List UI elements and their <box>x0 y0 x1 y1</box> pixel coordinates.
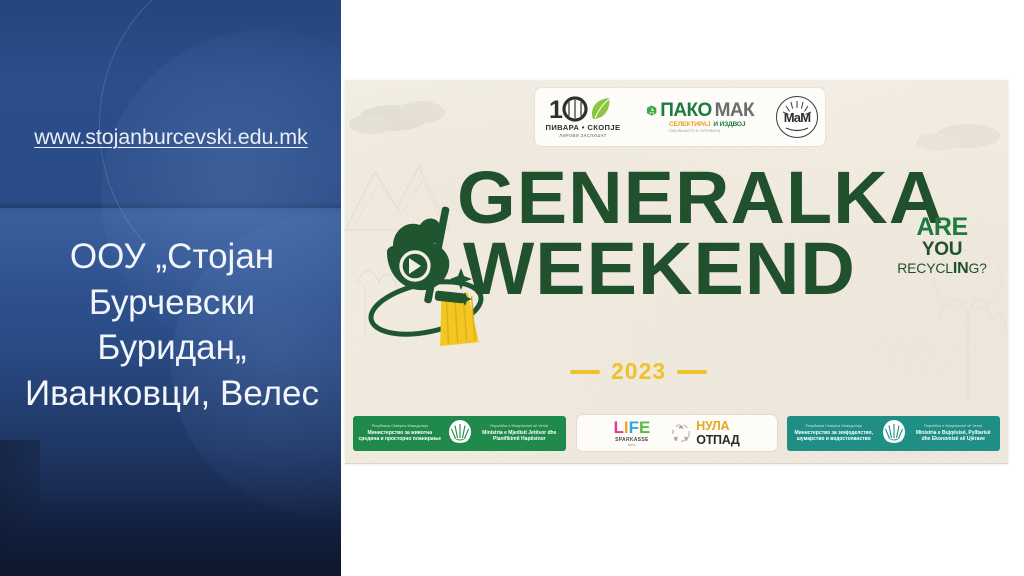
nula-line-1: НУЛА <box>696 420 739 433</box>
macedonia-coat-of-arms-icon <box>447 419 473 447</box>
pivara-skopje-label: ПИВАРА • СКОПЈЕ <box>545 123 620 132</box>
recycling-prefix: RECYCL <box>897 260 953 276</box>
recycle-arrows-icon <box>670 422 692 444</box>
ministry-environment-country-mk: Република Северна Македонија <box>372 424 428 428</box>
pakomak-tagline-b: И ИЗДВОЈ <box>713 121 745 128</box>
top-sponsor-bar: 1 ПИВАРА • СКОПЈЕ ЛИРОВИ ЗАСЛУШАТ <box>535 88 825 146</box>
recycling-line-recycling: RECYCLING? <box>894 261 990 277</box>
ministry-environment-mk: Република Северна Македонија Министерств… <box>358 424 442 441</box>
ministry-agriculture-mk: Република Северна Македонија Министерств… <box>792 424 876 441</box>
pivara-100-glyph-icon: 1 <box>549 96 617 122</box>
poster-title-line-2: WEEKEND <box>463 236 916 301</box>
pakomak-hexagon-recycle-icon <box>646 101 657 120</box>
poster-year-row: 2023 <box>570 358 707 385</box>
ministry-environment-banner: Република Северна Македонија Министерств… <box>353 416 566 451</box>
nula-otpad-wordmark: НУЛА ОТПАД <box>696 420 739 446</box>
life-wordmark: LIFE <box>613 419 650 436</box>
mam-circle-rays-icon <box>777 97 817 137</box>
ministry-agriculture-title-sq: Ministria e Bujqësisë, Pylltarisë dhe Ek… <box>912 430 996 442</box>
mam-logo: MaM <box>776 96 818 138</box>
ministry-environment-title-mk: Министерство за животна средина и просто… <box>358 430 442 442</box>
pivara-skopje-logo: 1 ПИВАРА • СКОПЈЕ ЛИРОВИ ЗАСЛУШАТ <box>542 96 624 139</box>
poster-bottom-rule <box>345 463 1008 464</box>
pakomak-logo: ПАКО МАК СЕЛЕКТИРАЈ И ИЗДВОЈ ПАКУВАЊЕТО … <box>646 101 754 133</box>
pivara-skopje-sublabel: ЛИРОВИ ЗАСЛУШАТ <box>559 133 606 138</box>
recycling-line-you: YOU <box>894 240 990 259</box>
pakomak-tagline-a: СЕЛЕКТИРАЈ <box>669 121 710 128</box>
school-name-title: ООУ „Стојан Бурчевски Буридан„ Иванковци… <box>22 234 322 416</box>
macedonia-coat-of-arms-icon-2 <box>881 419 907 447</box>
pakomak-tagline: СЕЛЕКТИРАЈ И ИЗДВОЈ <box>669 121 754 128</box>
life-letter-l: L <box>613 419 623 436</box>
ministry-agriculture-country-mk: Република Северна Македонија <box>806 424 862 428</box>
pivara-100-mark: 1 <box>549 96 617 122</box>
pakomak-wordmark: ПАКО МАК <box>646 101 754 120</box>
ministry-agriculture-country-sq: Republika e Maqedonisë së Veriut <box>924 424 982 428</box>
svg-text:1: 1 <box>549 96 563 122</box>
website-url-link[interactable]: www.stojanburcevski.edu.mk <box>10 125 332 150</box>
pakomak-word-green: ПАКО <box>660 101 711 120</box>
life-sparkasse-logo: LIFE SPARKASSE Bank <box>613 419 650 447</box>
panel-corner-shadow <box>0 440 40 576</box>
ministry-environment-title-sq: Ministria e Mjedisit Jetësor dhe Planifi… <box>478 430 562 442</box>
center-sponsor-logos: LIFE SPARKASSE Bank НУЛА ОТПАД <box>577 415 777 451</box>
ministry-environment-country-sq: Republika e Maqedonisë së Veriut <box>490 424 548 428</box>
nula-otpad-logo: НУЛА ОТПАД <box>670 420 739 446</box>
nula-line-2: ОТПАД <box>696 434 739 447</box>
recycling-suffix: G? <box>968 260 986 276</box>
ministry-agriculture-title-mk: Министерство за земјоделство, шумарство … <box>792 430 876 442</box>
bottom-sponsor-row: Република Северна Македонија Министерств… <box>353 413 1000 453</box>
pakomak-word-grey: МАК <box>715 101 754 120</box>
life-letter-f: F <box>629 419 639 436</box>
pakomak-tagline-c: ПАКУВАЊЕТО Е СУРОВИНА <box>669 129 754 133</box>
poster-year: 2023 <box>611 358 666 385</box>
recycling-tagline-block: ARE YOU RECYCLING? <box>894 216 990 277</box>
year-dash-left <box>570 370 600 374</box>
recycling-line-are: ARE <box>894 216 990 239</box>
ministry-agriculture-banner: Република Северна Македонија Министерств… <box>787 416 1000 451</box>
generalka-weekend-poster-image: 1 ПИВАРА • СКОПЈЕ ЛИРОВИ ЗАСЛУШАТ <box>345 80 1008 463</box>
year-dash-right <box>677 370 707 374</box>
sparkasse-bank-label: Bank <box>628 443 636 447</box>
life-letter-e: E <box>639 419 650 436</box>
ministry-agriculture-sq: Republika e Maqedonisë së Veriut Ministr… <box>912 424 996 441</box>
ministry-environment-sq: Republika e Maqedonisë së Veriut Ministr… <box>478 424 562 441</box>
poster-title: GENERALKA WEEKEND <box>457 165 907 301</box>
recycling-bold-in: IN <box>953 260 969 277</box>
poster-title-line-1: GENERALKA <box>457 165 916 230</box>
